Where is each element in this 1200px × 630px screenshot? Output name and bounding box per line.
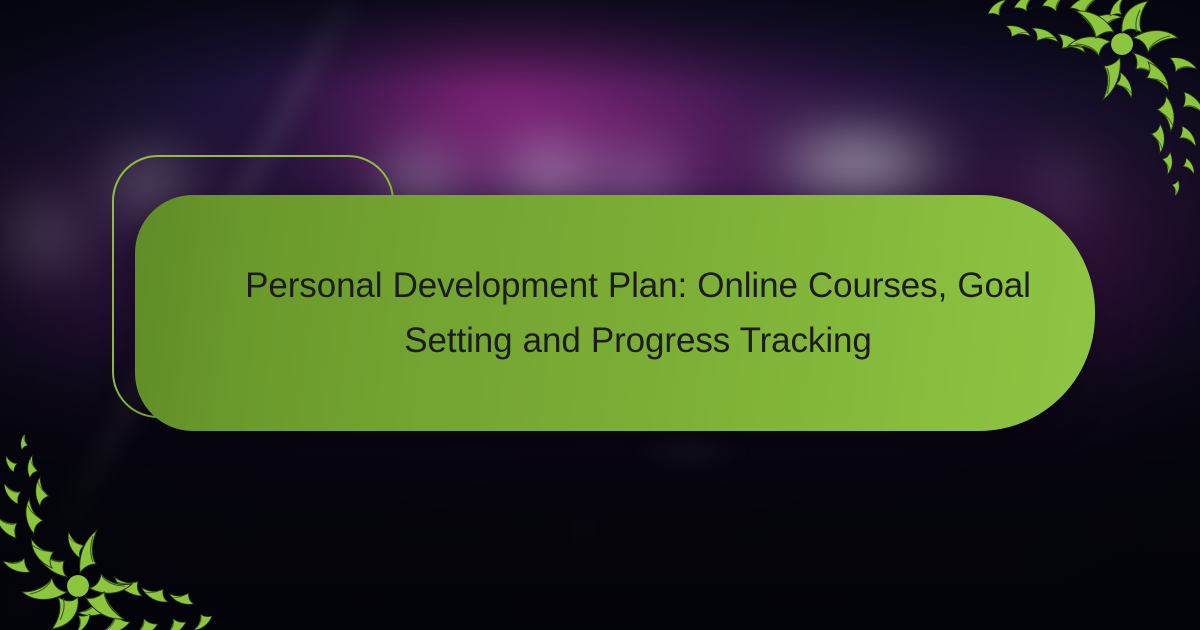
title-card-group: Personal Development Plan: Online Course… xyxy=(0,0,1200,630)
page-title: Personal Development Plan: Online Course… xyxy=(238,258,1038,369)
title-card: Personal Development Plan: Online Course… xyxy=(135,195,1095,431)
poster-canvas: Personal Development Plan: Online Course… xyxy=(0,0,1200,630)
